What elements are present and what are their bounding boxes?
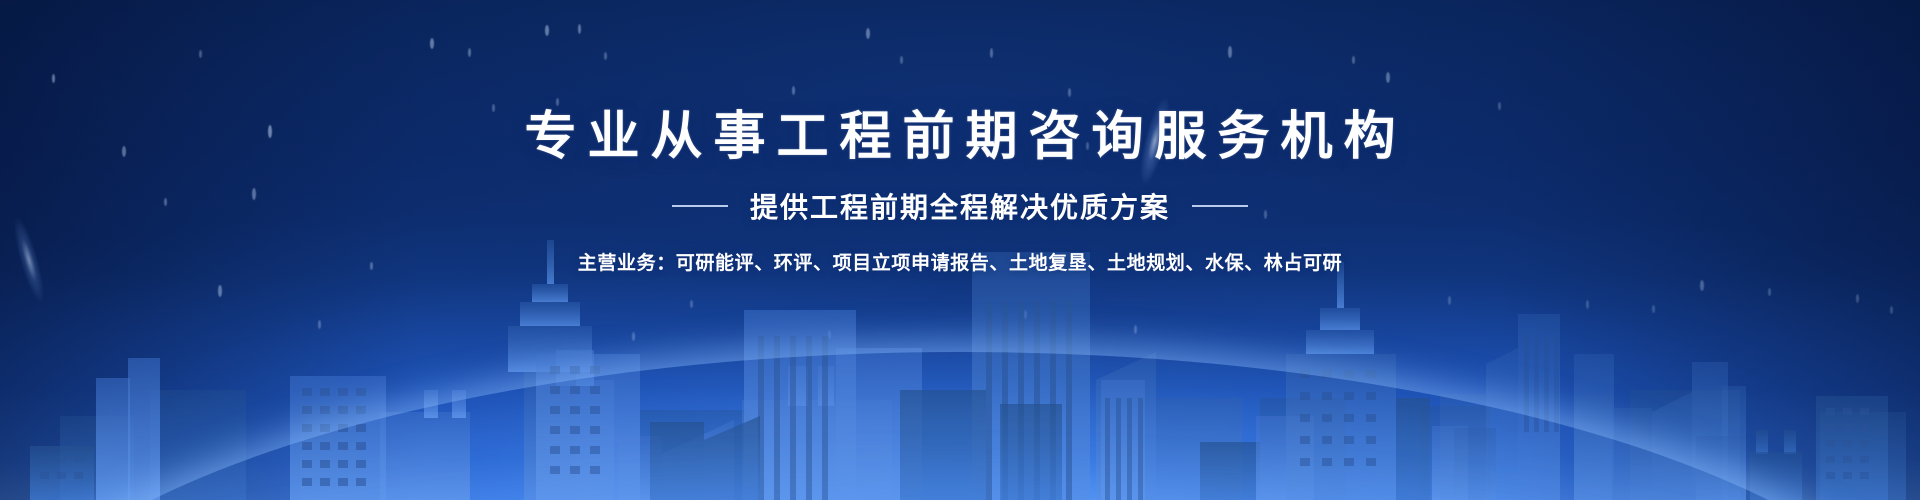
- right-rule-icon: [1192, 205, 1248, 207]
- left-rule-icon: [672, 205, 728, 207]
- banner-business-line: 主营业务：可研能评、环评、项目立项申请报告、土地复垦、土地规划、水保、林占可研: [0, 248, 1920, 275]
- banner-subtitle-row: 提供工程前期全程解决优质方案: [0, 186, 1920, 226]
- banner-content: 专业从事工程前期咨询服务机构 提供工程前期全程解决优质方案 主营业务：可研能评、…: [0, 0, 1920, 275]
- hero-banner: 专业从事工程前期咨询服务机构 提供工程前期全程解决优质方案 主营业务：可研能评、…: [0, 0, 1920, 500]
- banner-headline: 专业从事工程前期咨询服务机构: [0, 108, 1920, 166]
- city-skyline: [0, 240, 1920, 500]
- banner-subtitle: 提供工程前期全程解决优质方案: [750, 186, 1170, 226]
